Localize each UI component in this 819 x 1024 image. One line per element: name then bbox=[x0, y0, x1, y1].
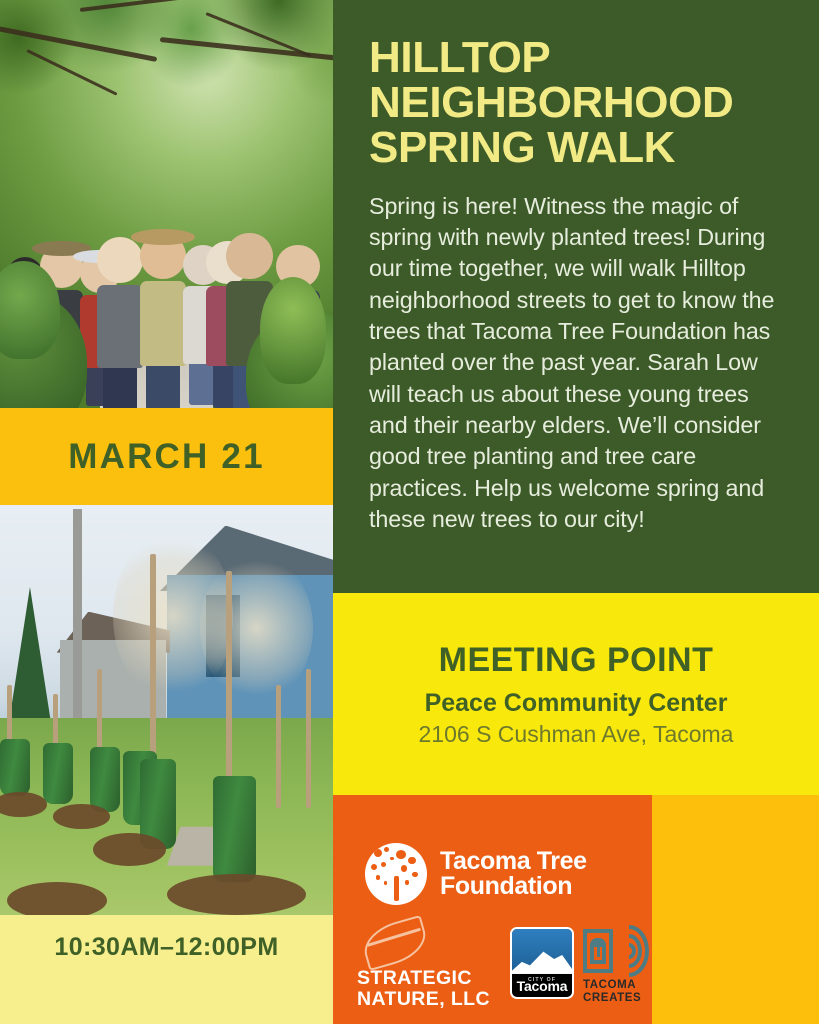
title-line-2: NEIGHBORHOOD bbox=[369, 81, 781, 126]
leaf-icon bbox=[363, 923, 427, 963]
sn-line-2: NATURE, LLC bbox=[357, 989, 502, 1010]
event-poster: MARCH 21 10:30AM bbox=[0, 0, 819, 1024]
mulch-ring bbox=[0, 792, 47, 817]
person bbox=[140, 233, 187, 380]
watering-bag bbox=[90, 747, 120, 813]
amber-accent-block bbox=[652, 795, 819, 1024]
concentric-arcs-icon bbox=[583, 925, 649, 977]
tacoma-tree-foundation-wordmark: Tacoma Tree Foundation bbox=[440, 849, 587, 899]
tree-trunk bbox=[226, 571, 232, 809]
watering-bag bbox=[213, 776, 256, 883]
tacoma-tree-foundation-logo: Tacoma Tree Foundation bbox=[365, 843, 587, 905]
tree-in-circle-icon bbox=[365, 843, 427, 905]
tree-stake bbox=[276, 685, 281, 808]
tree-crown bbox=[200, 554, 313, 702]
sponsor-logo-panel: Tacoma Tree Foundation STRATEGIC NATURE,… bbox=[333, 795, 652, 1024]
strategic-nature-wordmark: STRATEGIC NATURE, LLC bbox=[357, 968, 502, 1010]
tacoma-creates-wordmark: TACOMA CREATES bbox=[583, 979, 649, 1005]
event-date: MARCH 21 bbox=[68, 437, 265, 477]
tree-stake bbox=[306, 669, 311, 808]
event-date-band: MARCH 21 bbox=[0, 408, 333, 505]
meeting-address: 2106 S Cushman Ave, Tacoma bbox=[419, 721, 734, 748]
meeting-venue-name: Peace Community Center bbox=[425, 689, 728, 718]
headline-panel: HILLTOP NEIGHBORHOOD SPRING WALK Spring … bbox=[333, 0, 819, 593]
event-time-band: 10:30AM–12:00PM bbox=[0, 915, 333, 1024]
tc-line-2: CREATES bbox=[583, 992, 649, 1005]
sn-line-1: STRATEGIC bbox=[357, 967, 472, 989]
ttf-line-1: Tacoma Tree bbox=[440, 847, 587, 875]
bottom-photo-planted-trees bbox=[0, 505, 333, 915]
tacoma-creates-logo: TACOMA CREATES bbox=[583, 925, 649, 1001]
city-of-tacoma-logo: CITY OF Tacoma bbox=[510, 927, 574, 999]
utility-pole bbox=[73, 509, 82, 730]
mulch-ring bbox=[53, 804, 110, 829]
strategic-nature-logo: STRATEGIC NATURE, LLC bbox=[357, 923, 502, 1010]
grass-clump bbox=[260, 277, 327, 383]
city-of-tacoma-name: Tacoma bbox=[512, 978, 572, 994]
mulch-ring bbox=[167, 874, 307, 915]
mulch-ring bbox=[93, 833, 166, 866]
ttf-line-2: Foundation bbox=[440, 874, 587, 899]
meeting-point-panel: MEETING POINT Peace Community Center 210… bbox=[333, 593, 819, 795]
person bbox=[97, 237, 144, 380]
tree-canopy bbox=[0, 0, 333, 204]
title-line-1: HILLTOP bbox=[369, 36, 781, 81]
top-photo-group-walk bbox=[0, 0, 333, 408]
watering-bag bbox=[43, 743, 73, 805]
meeting-point-heading: MEETING POINT bbox=[439, 641, 714, 680]
mulch-ring bbox=[7, 882, 107, 915]
event-time: 10:30AM–12:00PM bbox=[54, 933, 278, 962]
watering-bag bbox=[0, 739, 30, 796]
tc-line-1: TACOMA bbox=[583, 979, 636, 991]
event-description: Spring is here! Witness the magic of spr… bbox=[369, 191, 781, 536]
page-title: HILLTOP NEIGHBORHOOD SPRING WALK bbox=[369, 36, 781, 171]
title-line-3: SPRING WALK bbox=[369, 126, 781, 171]
